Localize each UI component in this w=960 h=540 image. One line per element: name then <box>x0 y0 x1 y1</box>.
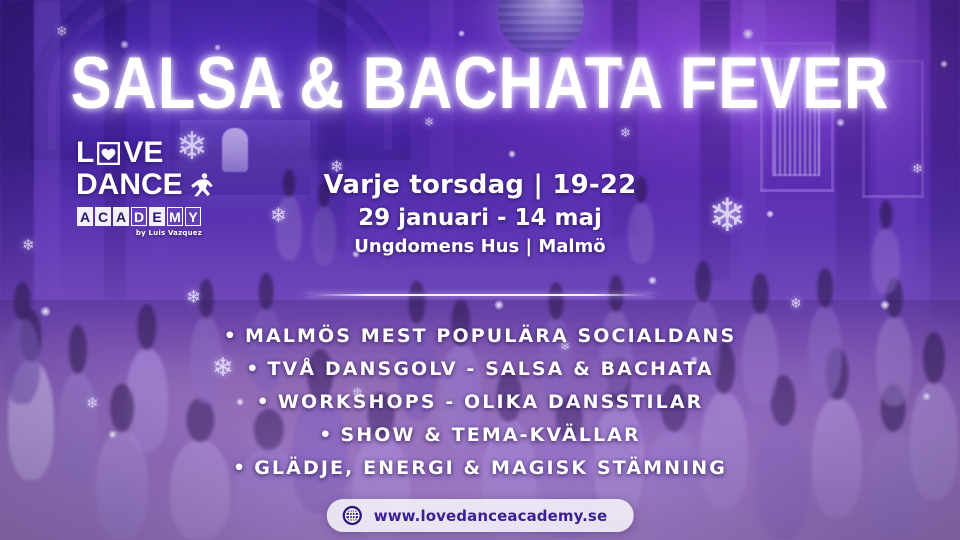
list-item-label: GLÄDJE, ENERGI & MAGISK STÄMNING <box>254 457 727 479</box>
globe-icon <box>342 505 363 526</box>
event-poster: ❄ ❄ ❄ ❄ ❄ ❄ ❄ ❄ ❄ ❄ ❄ ❄ ❄ ❄ ❄ L <box>0 0 960 540</box>
divider <box>305 294 655 296</box>
logo-love-ve: VE <box>123 138 163 168</box>
list-item: •MALMÖS MEST POPULÄRA SOCIALDANS <box>0 320 960 353</box>
list-item-label: SHOW & TEMA-KVÄLLAR <box>341 424 641 446</box>
page-title: SALSA & BACHATA FEVER <box>5 48 955 121</box>
list-item: •TVÅ DANSGOLV - SALSA & BACHATA <box>0 353 960 386</box>
list-item-label: TVÅ DANSGOLV - SALSA & BACHATA <box>268 358 714 380</box>
bullet-dot: • <box>233 457 247 479</box>
website-url: www.lovedanceacademy.se <box>374 507 608 525</box>
feature-list: •MALMÖS MEST POPULÄRA SOCIALDANS •TVÅ DA… <box>0 320 960 485</box>
list-item: •WORKSHOPS - OLIKA DANSSTILAR <box>0 386 960 419</box>
logo-love-l: L <box>76 138 94 168</box>
bullet-dot: • <box>224 325 238 347</box>
venue-line: Ungdomens Hus | Malmö <box>0 236 960 257</box>
schedule-line: Varje torsdag | 19-22 <box>0 170 960 200</box>
heart-icon <box>97 142 120 165</box>
bullet-dot: • <box>319 424 333 446</box>
list-item: •SHOW & TEMA-KVÄLLAR <box>0 419 960 452</box>
list-item: •GLÄDJE, ENERGI & MAGISK STÄMNING <box>0 452 960 485</box>
list-item-label: WORKSHOPS - OLIKA DANSSTILAR <box>278 391 703 413</box>
logo-love-row: L VE <box>76 138 204 168</box>
dates-line: 29 januari - 14 maj <box>0 205 960 231</box>
website-pill[interactable]: www.lovedanceacademy.se <box>327 499 634 532</box>
list-item-label: MALMÖS MEST POPULÄRA SOCIALDANS <box>245 325 736 347</box>
bullet-dot: • <box>257 391 271 413</box>
bullet-dot: • <box>246 358 260 380</box>
